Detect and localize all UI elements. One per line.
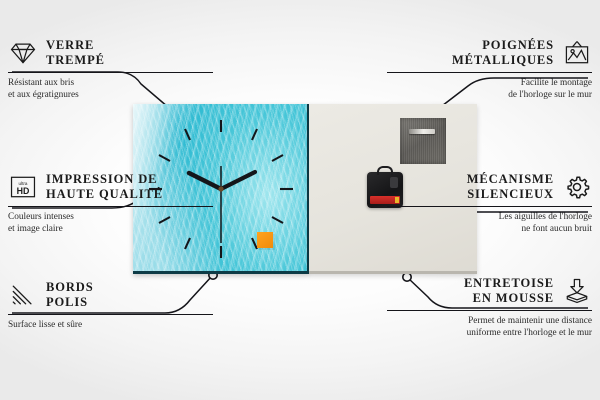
feature-impression-haute-qualite: ultra HD IMPRESSION DEHAUTE QUALITÉ Coul… <box>8 172 213 236</box>
divider <box>8 314 213 316</box>
feature-title: VERRETREMPÉ <box>46 38 105 69</box>
foam-spacer-icon <box>562 277 592 305</box>
polished-edges-icon <box>8 281 38 309</box>
feature-description: Résistant aux briset aux égratignures <box>8 77 213 102</box>
feature-title: ENTRETOISEEN MOUSSE <box>464 276 554 307</box>
svg-text:HD: HD <box>17 186 30 196</box>
gear-icon <box>562 173 592 201</box>
feature-title: POIGNÉESMÉTALLIQUES <box>452 38 554 69</box>
feature-verre-trempe: VERRETREMPÉ Résistant aux briset aux égr… <box>8 38 213 102</box>
clock-center-pin <box>218 186 223 191</box>
divider <box>8 72 213 74</box>
feature-description: Les aiguilles de l'horlogene font aucun … <box>387 211 592 236</box>
diamond-icon <box>8 39 38 67</box>
feature-entretoise-en-mousse: ENTRETOISEEN MOUSSE Permet de maintenir … <box>387 276 592 340</box>
clock-hand-minute <box>221 172 255 189</box>
feature-mecanisme-silencieux: MÉCANISMESILENCIEUX Les aiguilles de l'h… <box>387 172 592 236</box>
feature-description: Surface lisse et sûre <box>8 319 213 332</box>
feature-description: Couleurs intenseset image claire <box>8 211 213 236</box>
feature-poignees-metalliques: POIGNÉESMÉTALLIQUES Facilite le montaged… <box>387 38 592 102</box>
metal-hanger-plate <box>400 118 446 164</box>
divider <box>387 310 592 312</box>
divider <box>387 72 592 74</box>
feature-title: BORDSPOLIS <box>46 280 94 311</box>
feature-title: MÉCANISMESILENCIEUX <box>467 172 554 203</box>
ultra-hd-icon: ultra HD <box>8 173 38 201</box>
feature-description: Permet de maintenir une distanceuniforme… <box>387 315 592 340</box>
hanger-slot <box>409 129 435 134</box>
divider <box>8 206 213 208</box>
feature-description: Facilite le montagede l'horloge sur le m… <box>387 77 592 102</box>
foam-spacer <box>257 232 273 248</box>
divider <box>387 206 592 208</box>
feature-title: IMPRESSION DEHAUTE QUALITÉ <box>46 172 163 203</box>
hanging-frame-icon <box>562 39 592 67</box>
feature-bords-polis: BORDSPOLIS Surface lisse et sûre <box>8 280 213 331</box>
